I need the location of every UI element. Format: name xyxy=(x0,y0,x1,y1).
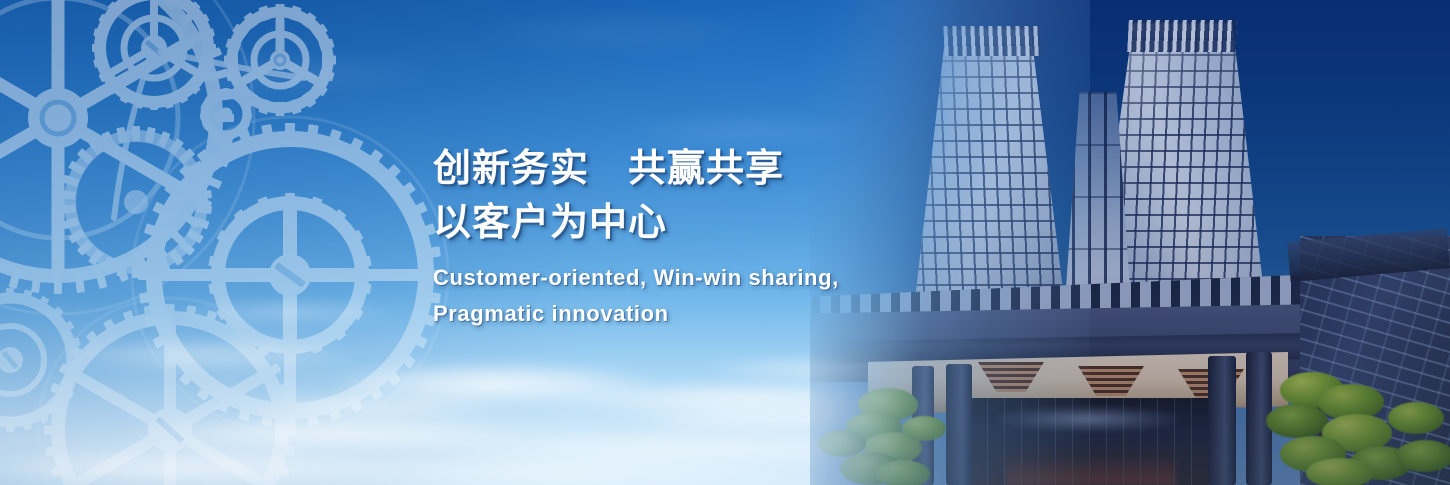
cloud-wisp xyxy=(140,60,440,86)
subtitle-line-1: Customer-oriented, Win-win sharing, xyxy=(433,260,839,296)
cloud-wisp xyxy=(460,20,780,44)
headline-line-1: 创新务实 共赢共享 xyxy=(433,142,839,196)
slogan-text-block: 创新务实 共赢共享 以客户为中心 Customer-oriented, Win-… xyxy=(433,142,839,332)
photo-bottom-fade xyxy=(810,335,1450,485)
subtitle-line-2: Pragmatic innovation xyxy=(433,296,839,332)
office-tower-photograph xyxy=(810,0,1450,485)
headline-line-2: 以客户为中心 xyxy=(433,196,839,250)
corporate-banner: 创新务实 共赢共享 以客户为中心 Customer-oriented, Win-… xyxy=(0,0,1450,485)
